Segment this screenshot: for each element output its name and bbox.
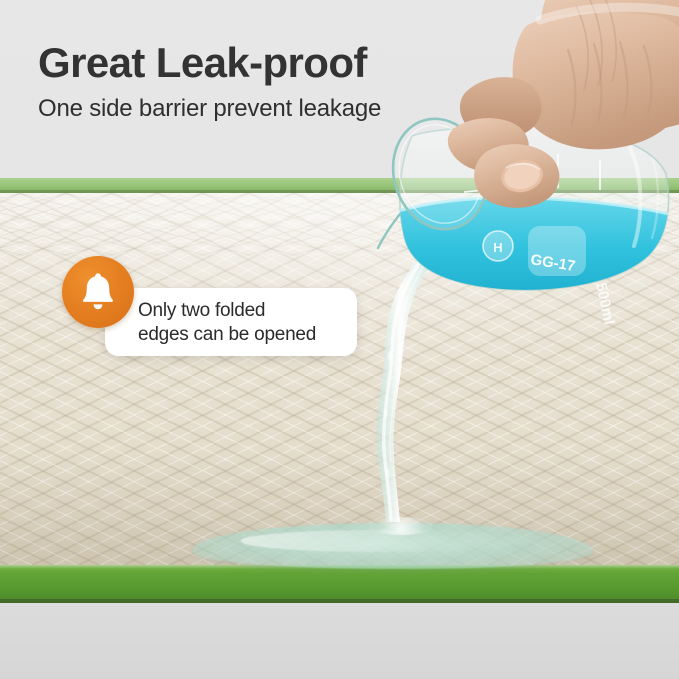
beaker-maker-mark: H (493, 240, 502, 255)
header-block: Great Leak-proof One side barrier preven… (38, 40, 381, 123)
bell-icon (81, 273, 115, 311)
page-title: Great Leak-proof (38, 40, 381, 85)
callout-text: Only two folded edges can be opened (138, 299, 316, 347)
page-subtitle: One side barrier prevent leakage (38, 95, 381, 123)
callout-line-1: Only two folded (138, 299, 316, 323)
callout-card: Only two folded edges can be opened (105, 288, 357, 356)
pad-bottom-green-edge (0, 565, 679, 603)
product-feature-image: 500 APPROX GG-17 500ml H (0, 0, 679, 679)
callout-line-2: edges can be opened (138, 323, 316, 347)
callout-icon-circle (62, 256, 134, 328)
hand-holding-beaker (430, 0, 679, 240)
